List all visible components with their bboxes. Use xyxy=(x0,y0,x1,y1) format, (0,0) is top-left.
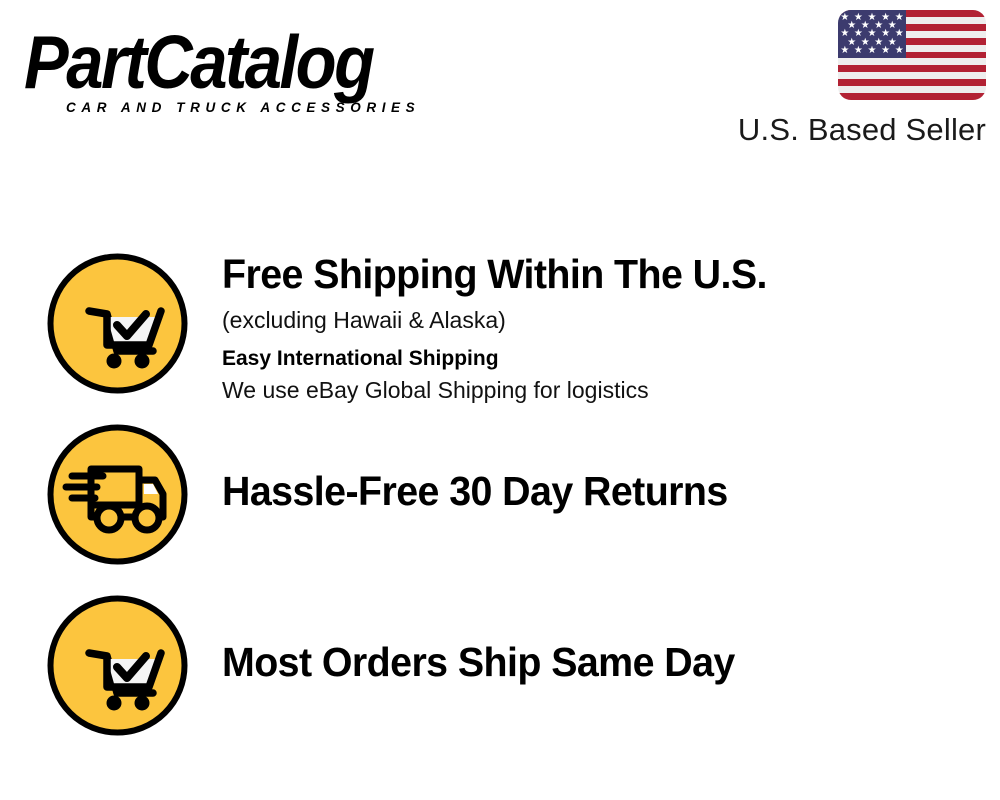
feature-text-block: Free Shipping Within The U.S. (excluding… xyxy=(222,251,982,406)
feature-strong-line: Easy International Shipping xyxy=(222,344,982,374)
feature-title: Most Orders Ship Same Day xyxy=(222,639,952,686)
flag-stripe xyxy=(838,93,986,100)
feature-text-block: Hassle-Free 30 Day Returns xyxy=(222,468,982,515)
brand-logo[interactable]: PartCatalog CAR AND TRUCK ACCESSORIES xyxy=(24,24,494,114)
flag-stripe xyxy=(838,65,986,72)
flag-stars: ★★★★★ ★★★★ ★★★★★ ★★★★ ★★★★★ xyxy=(838,10,906,58)
delivery-truck-icon xyxy=(45,422,190,567)
star-icon: ★ xyxy=(854,47,863,55)
feature-title: Free Shipping Within The U.S. xyxy=(222,251,952,298)
brand-wordmark: PartCatalog xyxy=(24,24,494,102)
us-based-seller-label: U.S. Based Seller xyxy=(738,112,986,148)
feature-subtitle: (excluding Hawaii & Alaska) xyxy=(222,304,982,337)
feature-text-block: Most Orders Ship Same Day xyxy=(222,639,982,686)
flag-stripe xyxy=(838,79,986,86)
star-icon: ★ xyxy=(868,47,877,55)
star-icon: ★ xyxy=(840,47,849,55)
feature-title: Hassle-Free 30 Day Returns xyxy=(222,468,952,515)
shopping-cart-check-icon xyxy=(45,251,190,396)
us-flag-icon: ★★★★★ ★★★★ ★★★★★ ★★★★ ★★★★★ xyxy=(838,10,986,100)
star-icon: ★ xyxy=(881,47,890,55)
brand-tagline: CAR AND TRUCK ACCESSORIES xyxy=(66,100,420,115)
feature-note: We use eBay Global Shipping for logistic… xyxy=(222,375,982,406)
star-icon: ★ xyxy=(895,47,904,55)
shopping-cart-check-icon xyxy=(45,593,190,738)
page-header: PartCatalog CAR AND TRUCK ACCESSORIES ★★… xyxy=(0,0,1000,165)
us-flag-graphic: ★★★★★ ★★★★ ★★★★★ ★★★★ ★★★★★ xyxy=(838,10,986,100)
